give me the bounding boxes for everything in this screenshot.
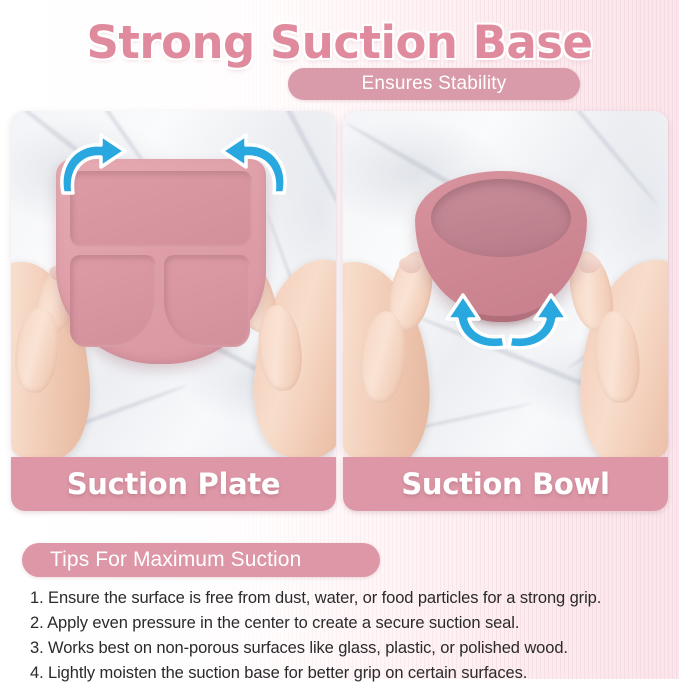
arrow-up-left-icon [51,131,131,201]
subtitle-pill: Ensures Stability [288,68,580,100]
tip-item: 1. Ensure the surface is free from dust,… [30,586,660,611]
header: Strong Suction Base Ensures Stability [0,0,679,108]
tips-list: 1. Ensure the surface is free from dust,… [30,586,660,686]
arrow-up-right-icon [501,293,571,355]
product-photo-suction-bowl [343,111,668,458]
plate-compartment-bottom-left [70,255,156,347]
subtitle-label: Ensures Stability [362,73,507,95]
tip-item: 2. Apply even pressure in the center to … [30,611,660,636]
product-photo-suction-plate [11,111,336,458]
caption-label-right: Suction Bowl [401,467,609,501]
arrow-up-right-icon [216,131,296,201]
caption-label-left: Suction Plate [67,467,281,501]
tips-heading-pill: Tips For Maximum Suction [22,543,380,577]
tip-item: 4. Lightly moisten the suction base for … [30,661,660,686]
tip-item: 3. Works best on non-porous surfaces lik… [30,636,660,661]
caption-suction-bowl: Suction Bowl [343,457,668,511]
plate-compartment-bottom-right [164,255,250,347]
page-title: Strong Suction Base [0,16,679,69]
tips-heading-label: Tips For Maximum Suction [22,548,301,572]
bowl-interior [431,179,571,257]
caption-suction-plate: Suction Plate [11,457,336,511]
